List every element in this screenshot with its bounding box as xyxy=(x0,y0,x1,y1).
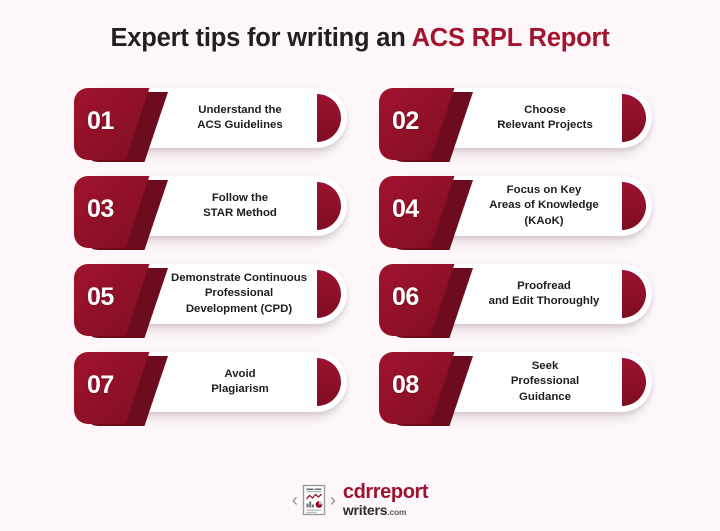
report-document-chart-icon xyxy=(301,484,327,516)
page-title-accent: ACS RPL Report xyxy=(412,24,610,52)
page-header: Expert tips for writing an ACS RPL Repor… xyxy=(0,0,720,59)
card-label: Focus on Key Areas of Knowledge (KAoK) xyxy=(461,176,627,236)
card-label-line: STAR Method xyxy=(203,206,277,221)
site-logo[interactable]: ‹ › cdrreport writers.com xyxy=(0,482,720,517)
card-label-line: Follow the xyxy=(212,191,268,206)
card-number: 01 xyxy=(87,109,114,134)
logo-mark: ‹ › xyxy=(292,484,336,516)
card-number: 05 xyxy=(87,285,114,310)
card-number: 03 xyxy=(87,197,114,222)
card-label: Seek Professional Guidance xyxy=(471,352,619,412)
logo-brand-tld: .com xyxy=(387,507,406,517)
tip-card[interactable]: 06 Proofread and Edit Thoroughly xyxy=(379,264,652,328)
tip-card[interactable]: 04 Focus on Key Areas of Knowledge (KAoK… xyxy=(379,176,652,240)
card-label-line: ACS Guidelines xyxy=(197,118,282,133)
card-label-line: and Edit Thoroughly xyxy=(489,294,600,309)
card-label-line: Plagiarism xyxy=(211,382,269,397)
card-label-line: Relevant Projects xyxy=(497,118,593,133)
tip-card[interactable]: 07 Avoid Plagiarism xyxy=(74,352,347,416)
angle-bracket-right-icon: › xyxy=(330,491,336,509)
card-label: Proofread and Edit Thoroughly xyxy=(461,264,627,324)
card-number: 02 xyxy=(392,109,419,134)
card-label-line: Guidance xyxy=(519,390,571,405)
logo-text: cdrreport writers.com xyxy=(343,482,428,517)
tip-card[interactable]: 03 Follow the STAR Method xyxy=(74,176,347,240)
card-label-line: Proofread xyxy=(517,279,571,294)
card-label-line: Areas of Knowledge xyxy=(489,198,599,213)
logo-brand-name: cdrreport xyxy=(343,482,428,502)
card-number: 04 xyxy=(392,197,419,222)
tip-card[interactable]: 01 Understand the ACS Guidelines xyxy=(74,88,347,152)
card-label-line: Understand the xyxy=(198,103,282,118)
card-label-line: Demonstrate Continuous xyxy=(171,271,307,286)
tip-card[interactable]: 05 Demonstrate Continuous Professional D… xyxy=(74,264,347,328)
tips-grid: 01 Understand the ACS Guidelines 02 Choo… xyxy=(74,88,652,416)
page-title: Expert tips for writing an ACS RPL Repor… xyxy=(0,24,720,53)
tip-card[interactable]: 08 Seek Professional Guidance xyxy=(379,352,652,416)
card-label: Demonstrate Continuous Professional Deve… xyxy=(156,264,322,324)
card-label-line: Professional xyxy=(205,286,273,301)
logo-brand-sub: writers.com xyxy=(343,503,407,517)
card-label-line: (KAoK) xyxy=(524,214,563,229)
card-number: 06 xyxy=(392,285,419,310)
card-label-line: Professional xyxy=(511,374,579,389)
card-label: Follow the STAR Method xyxy=(166,176,314,236)
card-label: Choose Relevant Projects xyxy=(471,88,619,148)
logo-brand-sub-word: writers xyxy=(343,502,388,518)
page-title-plain: Expert tips for writing an xyxy=(110,24,411,52)
card-label-line: Avoid xyxy=(224,367,255,382)
card-label-line: Seek xyxy=(532,359,559,374)
card-label-line: Choose xyxy=(524,103,566,118)
tip-card[interactable]: 02 Choose Relevant Projects xyxy=(379,88,652,152)
card-label: Avoid Plagiarism xyxy=(166,352,314,412)
card-label-line: Focus on Key xyxy=(507,183,582,198)
angle-bracket-left-icon: ‹ xyxy=(292,491,298,509)
card-number: 07 xyxy=(87,373,114,398)
card-number: 08 xyxy=(392,373,419,398)
card-label-line: Development (CPD) xyxy=(186,302,292,317)
card-label: Understand the ACS Guidelines xyxy=(166,88,314,148)
